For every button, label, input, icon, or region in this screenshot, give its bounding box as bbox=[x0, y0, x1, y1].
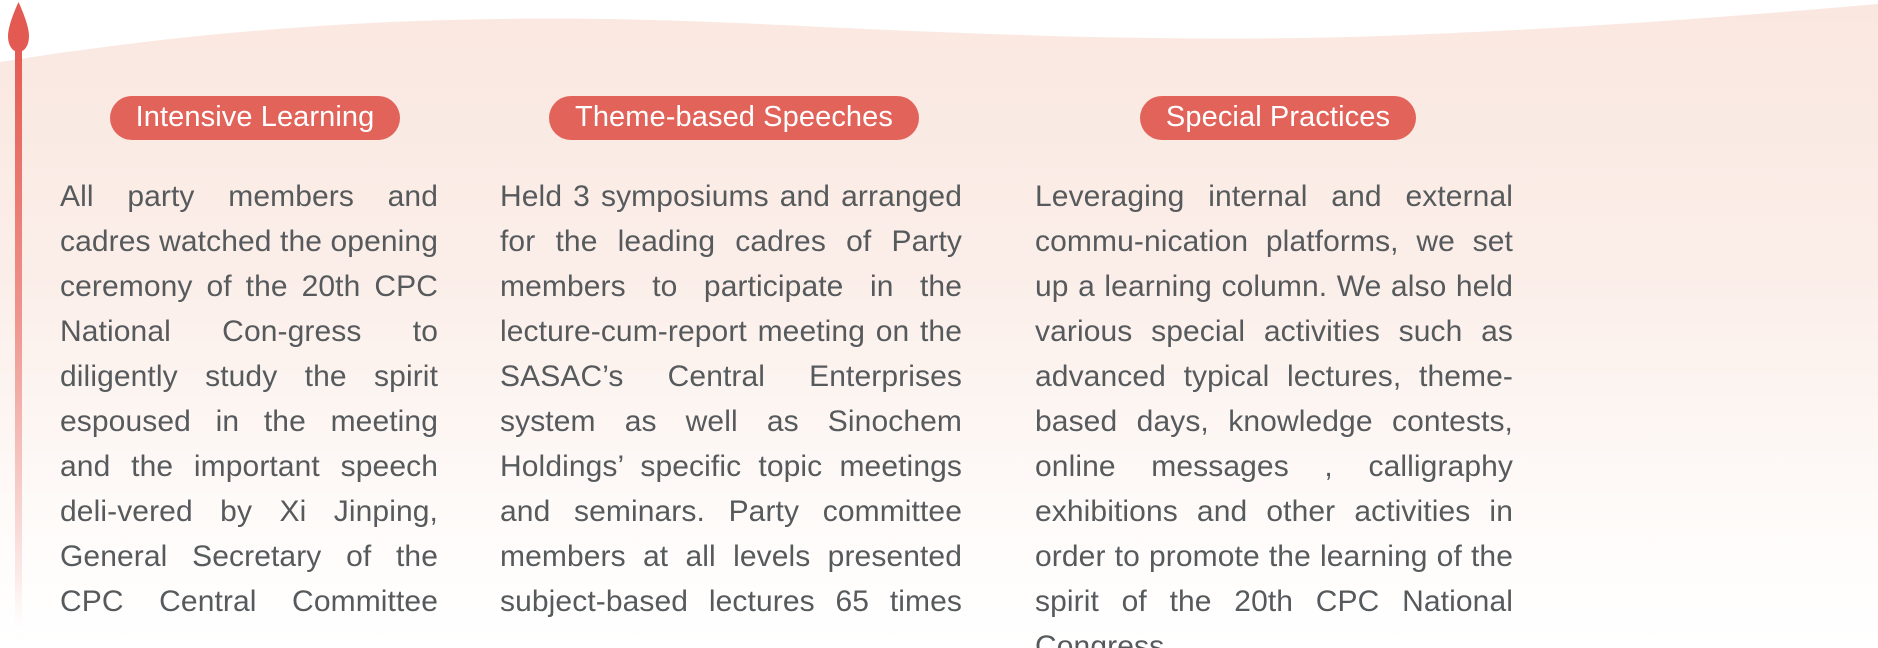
body-text-intensive-learning: All party members and cadres watched the… bbox=[60, 174, 438, 648]
columns-container: Intensive Learning All party members and… bbox=[0, 0, 1878, 648]
badge-row: Special Practices bbox=[1035, 96, 1513, 140]
badge-intensive-learning[interactable]: Intensive Learning bbox=[110, 96, 401, 140]
body-text-special-practices: Leveraging internal and external commu‑n… bbox=[1035, 174, 1513, 648]
column-theme-based-speeches: Theme-based Speeches Held 3 symposiums a… bbox=[500, 96, 962, 648]
body-text-theme-based-speeches: Held 3 symposiums and arranged for the l… bbox=[500, 174, 962, 648]
infographic-canvas: Intensive Learning All party members and… bbox=[0, 0, 1878, 648]
badge-theme-based-speeches[interactable]: Theme-based Speeches bbox=[549, 96, 919, 140]
column-special-practices: Special Practices Leveraging internal an… bbox=[1035, 96, 1513, 648]
column-intensive-learning: Intensive Learning All party members and… bbox=[60, 96, 438, 648]
badge-row: Intensive Learning bbox=[60, 96, 438, 140]
badge-row: Theme-based Speeches bbox=[500, 96, 962, 140]
badge-special-practices[interactable]: Special Practices bbox=[1140, 96, 1416, 140]
